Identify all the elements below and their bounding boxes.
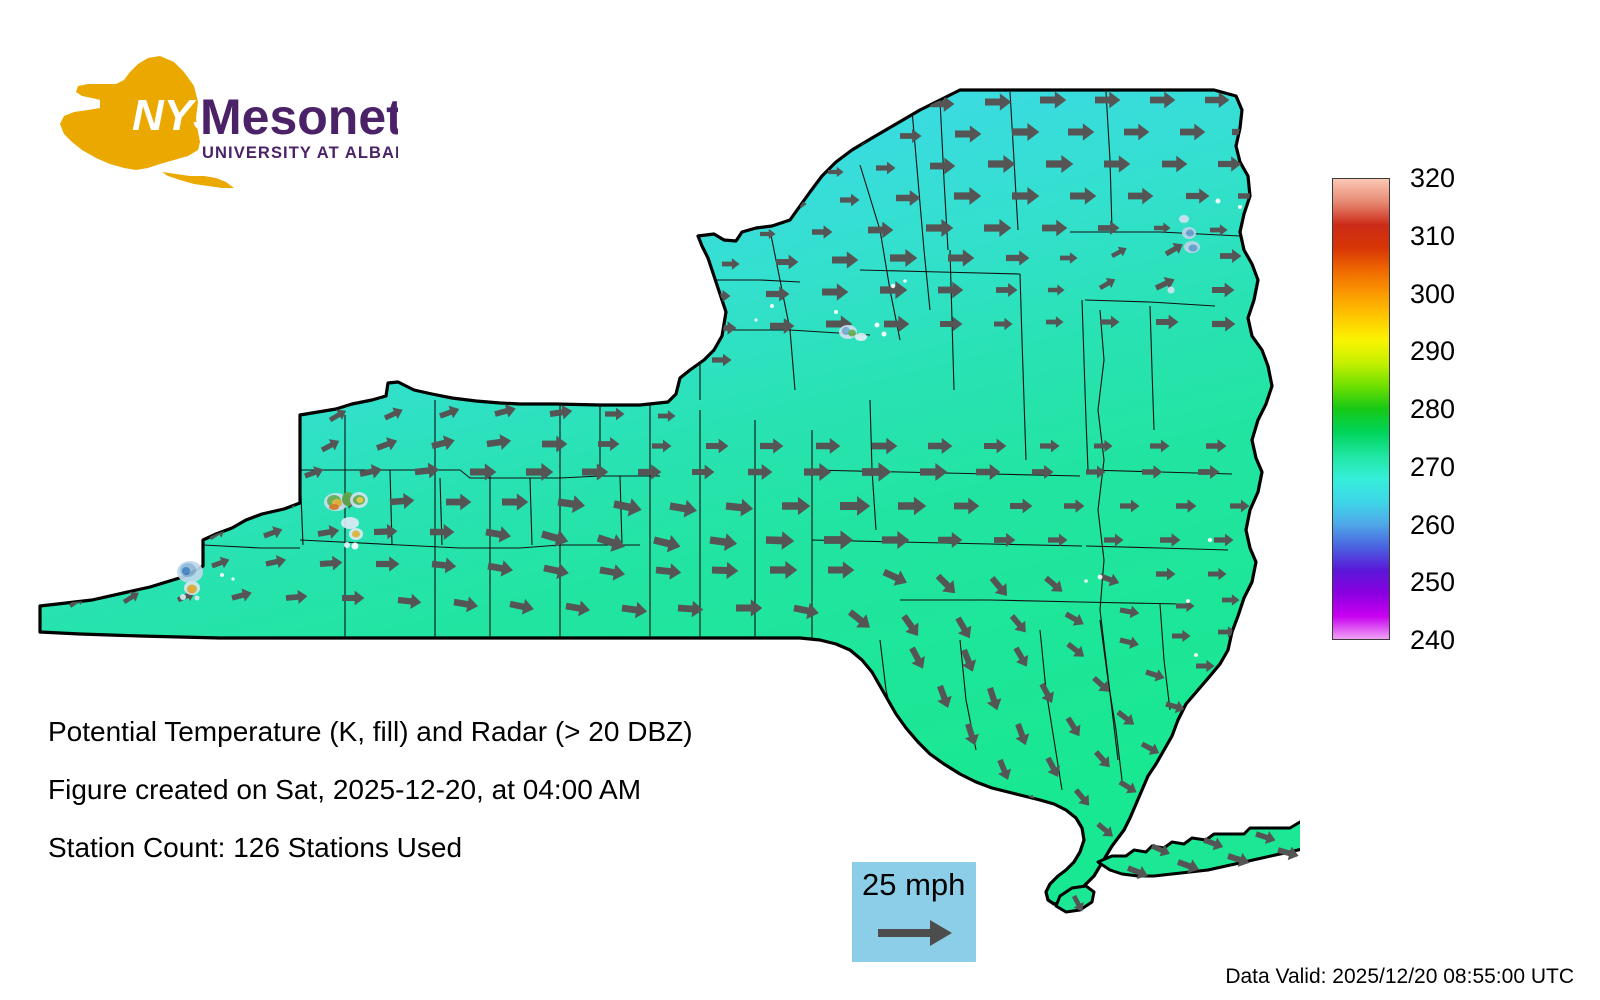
colorbar-tick-240: 240: [1410, 627, 1455, 654]
colorbar-gradient: [1332, 178, 1390, 640]
caption-line-station-count: Station Count: 126 Stations Used: [48, 834, 888, 862]
colorbar-tick-320: 320: [1410, 165, 1455, 192]
right-arrow-icon: [876, 916, 956, 950]
colorbar-tick-310: 310: [1410, 223, 1455, 250]
nys-mesonet-logo: NYS Mesonet UNIVERSITY AT ALBANY: [48, 46, 398, 196]
data-valid-timestamp: Data Valid: 2025/12/20 08:55:00 UTC: [1225, 966, 1574, 988]
caption-line-created: Figure created on Sat, 2025-12-20, at 04…: [48, 776, 888, 804]
colorbar-tick-250: 250: [1410, 569, 1455, 596]
caption-line-title: Potential Temperature (K, fill) and Rada…: [48, 718, 888, 746]
colorbar: 320310300290280270260250240: [1332, 178, 1582, 648]
figure-caption: Potential Temperature (K, fill) and Rada…: [48, 718, 888, 892]
colorbar-tick-300: 300: [1410, 281, 1455, 308]
colorbar-tick-270: 270: [1410, 454, 1455, 481]
colorbar-tick-280: 280: [1410, 396, 1455, 423]
wind-speed-legend: 25 mph: [852, 862, 976, 962]
logo-svg: NYS Mesonet UNIVERSITY AT ALBANY: [48, 46, 398, 196]
logo-subtitle-text: UNIVERSITY AT ALBANY: [202, 144, 398, 162]
logo-brand-text: Mesonet: [200, 89, 398, 145]
colorbar-tick-labels: 320310300290280270260250240: [1410, 178, 1570, 640]
wind-speed-legend-label: 25 mph: [862, 868, 965, 902]
logo-long-island-shape: [162, 172, 234, 188]
colorbar-tick-260: 260: [1410, 512, 1455, 539]
colorbar-tick-290: 290: [1410, 338, 1455, 365]
